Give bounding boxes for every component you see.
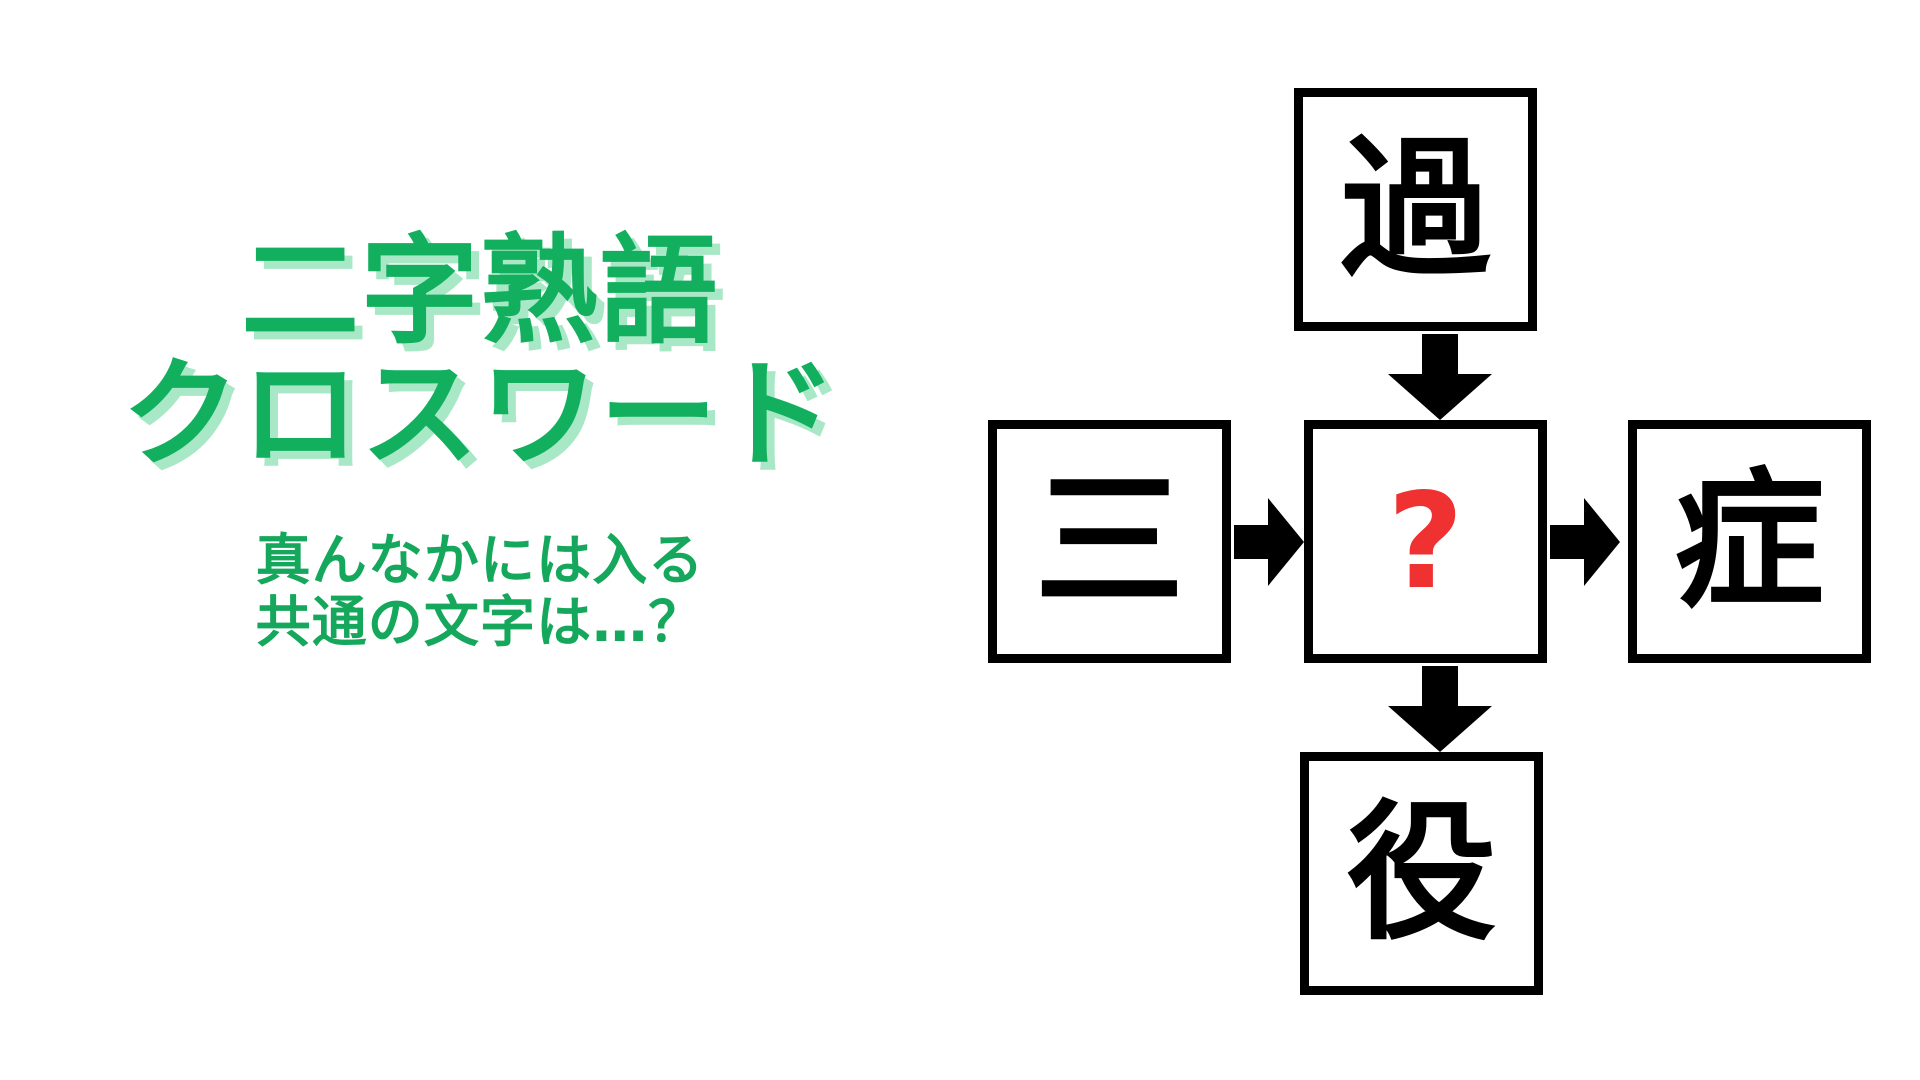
puzzle-cell-left-kanji: 三 — [1034, 467, 1184, 617]
subtitle: 真んなかには入る 共通の文字は…？ — [0, 530, 960, 653]
puzzle-cell-top-kanji: 過 — [1340, 135, 1490, 285]
arrow-right-icon — [1550, 498, 1620, 586]
puzzle-cell-bottom-kanji: 役 — [1346, 799, 1496, 949]
puzzle-cell-center[interactable]: ? — [1304, 420, 1547, 663]
puzzle-answer-question-mark: ? — [1387, 476, 1464, 608]
arrow-down-icon — [1388, 666, 1492, 752]
puzzle-cell-left[interactable]: 三 — [988, 420, 1231, 663]
puzzle-cell-top[interactable]: 過 — [1294, 88, 1537, 331]
poster-canvas: 二字熟語 クロスワード 真んなかには入る 共通の文字は…？ 過 ? — [0, 0, 1920, 1080]
page-title: 二字熟語 クロスワード — [0, 230, 960, 475]
title-line-2: クロスワード — [0, 353, 960, 476]
title-line-1: 二字熟語 — [0, 230, 960, 353]
kanji-cross-puzzle: 過 ? 三 症 — [960, 0, 1920, 1080]
puzzle-cell-right[interactable]: 症 — [1628, 420, 1871, 663]
left-text-panel: 二字熟語 クロスワード 真んなかには入る 共通の文字は…？ — [0, 230, 960, 830]
puzzle-cell-right-kanji: 症 — [1674, 467, 1824, 617]
arrow-right-icon — [1234, 498, 1304, 586]
puzzle-cell-bottom[interactable]: 役 — [1300, 752, 1543, 995]
subtitle-line-1: 真んなかには入る — [0, 530, 960, 592]
arrow-down-icon — [1388, 334, 1492, 420]
subtitle-line-2: 共通の文字は…？ — [0, 592, 960, 654]
